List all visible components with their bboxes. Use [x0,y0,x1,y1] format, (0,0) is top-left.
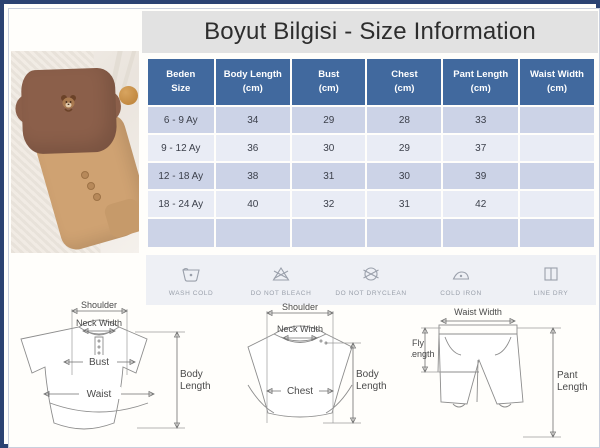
size-table: Beden Size Body Length (cm) Bust (cm) Ch… [146,57,596,249]
column-header-body-length: Body Length (cm) [216,59,291,105]
label-shoulder: Shoulder [282,302,318,312]
column-header-chest: Chest (cm) [367,59,441,105]
column-header-line1: Pant Length [445,68,516,82]
label-bust: Bust [89,357,109,368]
label-waist-width: Waist Width [454,307,502,317]
table-row: 18 - 24 Ay 40 32 31 42 [148,191,594,217]
cell-waist-width [520,191,594,217]
cell-body-length [216,219,291,247]
pants-measurement-diagram: Waist Width Fly Length Pant [411,297,597,448]
column-header-line2: (cm) [369,82,439,96]
cell-pant-length: 39 [443,163,518,189]
page-title: Boyut Bilgisi - Size Information [204,18,536,46]
column-header-line1: Beden [150,68,212,82]
cell-body-length: 36 [216,135,291,161]
column-header-line2: (cm) [218,82,289,96]
dress-measurement-diagram: Shoulder Neck Width Bust Bust [17,297,215,448]
cell-bust [292,219,365,247]
table-header-row: Beden Size Body Length (cm) Bust (cm) Ch… [148,59,594,105]
care-label: COLD IRON [440,290,482,297]
label-body-length-line1: Body [356,369,379,380]
table-row: 6 - 9 Ay 34 29 28 33 [148,107,594,133]
do-not-bleach-icon [270,263,292,285]
label-fly-length-line2: Length [411,349,435,359]
label-shoulder: Shoulder [81,300,117,310]
care-label: DO NOT BLEACH [251,290,312,297]
cell-pant-length: 37 [443,135,518,161]
label-chest: Chest [287,386,313,397]
wash-cold-icon [180,263,202,285]
label-fly-length-line1: Fly [412,338,424,348]
cell-chest: 31 [367,191,441,217]
label-pant-length-line1: Pant [557,370,578,381]
product-photo [11,51,139,253]
label-body-length-line1: Body [180,369,203,380]
care-item-do-not-bleach: DO NOT BLEACH [237,263,325,297]
care-item-wash-cold: WASH COLD [147,263,235,297]
label-body-length-line2: Length [180,381,211,392]
cell-size: 6 - 9 Ay [148,107,214,133]
cell-chest [367,219,441,247]
size-chart-frame: Boyut Bilgisi - Size Information [0,0,600,448]
label-pant-length-line2: Length [557,382,588,393]
column-header-line1: Waist Width [522,68,592,82]
care-label: DO NOT DRYCLEAN [335,290,406,297]
care-label: LINE DRY [534,290,569,297]
photo-prop-cookie [119,86,138,105]
cell-size: 12 - 18 Ay [148,163,214,189]
cell-waist-width [520,163,594,189]
cell-pant-length: 33 [443,107,518,133]
table-row: 12 - 18 Ay 38 31 30 39 [148,163,594,189]
cell-chest: 30 [367,163,441,189]
column-header-line1: Bust [294,68,363,82]
column-header-waist-width: Waist Width (cm) [520,59,594,105]
cell-size: 9 - 12 Ay [148,135,214,161]
line-dry-icon [540,263,562,285]
label-neck-width: Neck Width [76,318,122,328]
photo-button [81,171,89,179]
size-chart-canvas: Boyut Bilgisi - Size Information [8,8,600,448]
cell-bust: 30 [292,135,365,161]
cell-bust: 31 [292,163,365,189]
do-not-dryclean-icon [360,263,382,285]
cell-waist-width [520,107,594,133]
column-header-line2: Size [150,82,212,96]
column-header-line2: (cm) [294,82,363,96]
column-header-bust: Bust (cm) [292,59,365,105]
measurement-diagrams: Shoulder Neck Width Bust Bust [11,297,599,448]
cell-bust: 32 [292,191,365,217]
cell-chest: 29 [367,135,441,161]
column-header-line2: (cm) [445,82,516,96]
cell-chest: 28 [367,107,441,133]
column-header-line1: Chest [369,68,439,82]
care-item-do-not-dryclean: DO NOT DRYCLEAN [327,263,415,297]
cell-waist-width [520,219,594,247]
label-waist: Waist [87,389,112,400]
column-header-size: Beden Size [148,59,214,105]
title-band: Boyut Bilgisi - Size Information [142,11,598,53]
cell-size [148,219,214,247]
photo-bear-motif [59,93,79,115]
cell-pant-length: 42 [443,191,518,217]
table-row [148,219,594,247]
care-item-line-dry: LINE DRY [507,263,595,297]
sweater-measurement-diagram: Shoulder Neck Width Chest [219,297,409,448]
label-neck-width: Neck Width [277,324,323,334]
table-row: 9 - 12 Ay 36 30 29 37 [148,135,594,161]
cell-body-length: 34 [216,107,291,133]
column-header-pant-length: Pant Length (cm) [443,59,518,105]
cell-bust: 29 [292,107,365,133]
care-label: WASH COLD [169,290,214,297]
cell-body-length: 40 [216,191,291,217]
care-item-cold-iron: COLD IRON [417,263,505,297]
photo-button [93,193,101,201]
cell-size: 18 - 24 Ay [148,191,214,217]
label-body-length-line2: Length [356,381,387,392]
column-header-line2: (cm) [522,82,592,96]
cell-body-length: 38 [216,163,291,189]
cell-waist-width [520,135,594,161]
photo-button [87,182,95,190]
cold-iron-icon [450,263,472,285]
column-header-line1: Body Length [218,68,289,82]
cell-pant-length [443,219,518,247]
